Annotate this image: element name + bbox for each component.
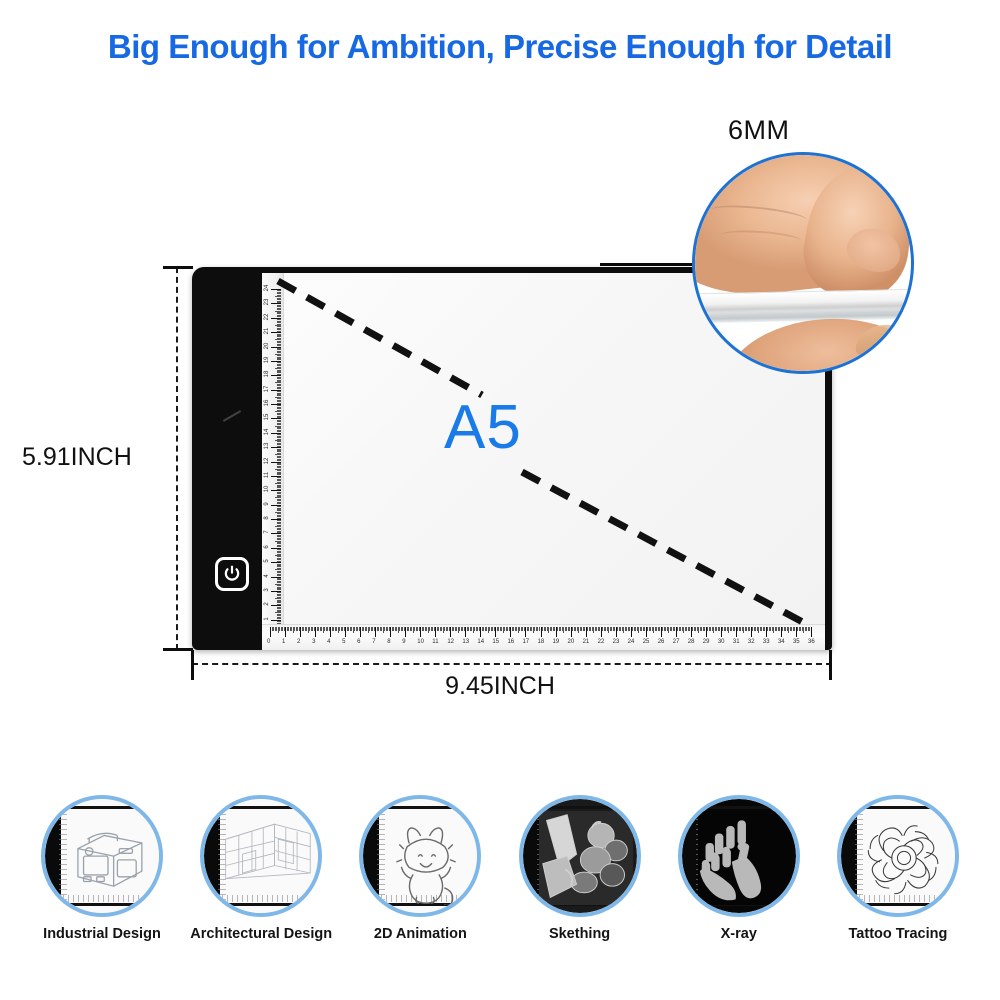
power-icon — [222, 564, 242, 584]
usecase-row: Industrial Design Architectural Design — [0, 795, 1000, 942]
height-dimension-label: 5.91INCH — [22, 443, 132, 472]
ruler-tick-label: 7 — [264, 527, 270, 537]
ruler-tick-label: 32 — [748, 639, 755, 645]
usecase-item[interactable]: Architectural Design — [191, 795, 331, 942]
ruler-tick-label: 1 — [282, 639, 285, 645]
usecase-item[interactable]: 2D Animation — [350, 795, 490, 942]
cat-sketch-icon — [379, 811, 473, 905]
usecase-circle — [519, 795, 641, 917]
pad-top-edge — [698, 806, 790, 809]
pad-top-edge — [857, 806, 949, 809]
ruler-tick-label: 15 — [264, 412, 270, 422]
usecase-pad-mock — [841, 799, 955, 913]
usecase-circle — [678, 795, 800, 917]
ruler-tick-label: 22 — [264, 312, 270, 322]
ruler-tick-label: 36 — [808, 639, 815, 645]
ruler-tick-label: 21 — [583, 639, 590, 645]
ruler-tick-label: 25 — [643, 639, 650, 645]
usecase-item[interactable]: Tattoo Tracing — [828, 795, 968, 942]
ruler-tick-label: 12 — [447, 639, 454, 645]
bezel-glint — [223, 410, 241, 422]
ruler-tick-label: 5 — [264, 556, 270, 566]
ruler-tick-label: 8 — [264, 513, 270, 523]
ruler-tick-label: 22 — [598, 639, 605, 645]
ruler-tick-label: 35 — [793, 639, 800, 645]
ruler-tick-label: 10 — [417, 639, 424, 645]
ruler-tick-label: 3 — [264, 585, 270, 595]
ruler-tick-label: 13 — [462, 639, 469, 645]
ruler-tick-label: 9 — [264, 499, 270, 509]
usecase-artwork — [539, 811, 633, 899]
ruler-tick-label: 24 — [628, 639, 635, 645]
ruler-tick-label: 6 — [357, 639, 360, 645]
ruler-tick-label: 2 — [264, 599, 270, 609]
ruler-tick-label: 24 — [264, 283, 270, 293]
width-dimension-label: 9.45INCH — [0, 672, 1000, 701]
width-dimension-cap-left — [191, 650, 194, 680]
ruler-tick-label: 18 — [538, 639, 545, 645]
callout-leader-line — [600, 263, 700, 266]
ruler-tick-label: 10 — [264, 484, 270, 494]
usecase-pad-mock — [523, 799, 637, 913]
ruler-tick-label: 28 — [688, 639, 695, 645]
usecase-circle — [837, 795, 959, 917]
infographic-page: Big Enough for Ambition, Precise Enough … — [0, 0, 1000, 1000]
ruler-tick-label: 14 — [264, 427, 270, 437]
ruler-tick-label: 34 — [778, 639, 785, 645]
height-dimension-line — [176, 267, 178, 650]
ruler-tick-label: 2 — [297, 639, 300, 645]
callout-photo — [695, 155, 911, 371]
ruler-tick-label: 19 — [264, 355, 270, 365]
generator-sketch-icon — [61, 811, 155, 905]
ruler-tick-label: 13 — [264, 441, 270, 451]
usecase-pad-mock — [45, 799, 159, 913]
horizontal-ruler: 0123456789101112131415161718192021222324… — [262, 624, 825, 650]
usecase-item[interactable]: Skething — [510, 795, 650, 942]
ruler-tick-label: 33 — [763, 639, 770, 645]
ruler-tick-label: 21 — [264, 326, 270, 336]
usecase-artwork — [61, 811, 155, 899]
ruler-tick-label: 4 — [327, 639, 330, 645]
usecase-artwork — [220, 811, 314, 899]
pad-top-edge — [379, 806, 471, 809]
ruler-tick-label: 0 — [267, 639, 270, 645]
usecase-circle — [200, 795, 322, 917]
pad-top-edge — [539, 806, 631, 809]
height-dimension-cap-top — [163, 266, 193, 269]
height-dimension-cap-bottom — [163, 648, 193, 651]
hand-xray-icon — [698, 811, 792, 905]
ruler-tick-label: 11 — [432, 639, 438, 645]
usecase-label: Architectural Design — [190, 926, 332, 942]
width-dimension-cap-right — [829, 650, 832, 680]
thickness-label: 6MM — [728, 115, 790, 146]
usecase-item[interactable]: X-ray — [669, 795, 809, 942]
power-button[interactable] — [215, 557, 249, 591]
ruler-tick-label: 5 — [342, 639, 345, 645]
width-dimension-line — [192, 663, 832, 665]
usecase-artwork — [379, 811, 473, 899]
usecase-label: Industrial Design — [43, 926, 161, 942]
ruler-tick-label: 20 — [264, 341, 270, 351]
ruler-tick-label: 30 — [718, 639, 725, 645]
usecase-pad-mock — [682, 799, 796, 913]
ruler-tick-label: 31 — [733, 639, 740, 645]
usecase-pad-mock — [204, 799, 318, 913]
ruler-tick-label: 7 — [372, 639, 375, 645]
usecase-pad-mock — [363, 799, 477, 913]
ruler-tick-label: 17 — [264, 384, 270, 394]
usecase-label: Skething — [549, 926, 610, 942]
ruler-tick-label: 29 — [703, 639, 710, 645]
ruler-tick-label: 1 — [264, 614, 270, 624]
ruler-tick-label: 3 — [312, 639, 315, 645]
ruler-tick-label: 19 — [553, 639, 560, 645]
ruler-tick-label: 9 — [402, 639, 405, 645]
size-label-a5: A5 — [444, 392, 522, 463]
chrysanthemum-line-art-icon — [857, 811, 951, 905]
still-life-drawing-icon — [539, 811, 633, 905]
ruler-tick-label: 23 — [613, 639, 620, 645]
usecase-circle — [41, 795, 163, 917]
ruler-tick-label: 14 — [477, 639, 484, 645]
usecase-label: Tattoo Tracing — [849, 926, 948, 942]
ruler-tick-label: 8 — [387, 639, 390, 645]
thickness-callout-circle — [692, 152, 914, 374]
usecase-item[interactable]: Industrial Design — [32, 795, 172, 942]
usecase-circle — [359, 795, 481, 917]
pad-top-edge — [220, 806, 312, 809]
page-title: Big Enough for Ambition, Precise Enough … — [0, 28, 1000, 66]
usecase-label: 2D Animation — [374, 926, 467, 942]
vertical-ruler: 0123456789101112131415161718192021222324 — [262, 273, 284, 644]
building-wireframe-icon — [220, 811, 314, 905]
ruler-tick-label: 15 — [492, 639, 499, 645]
usecase-artwork — [698, 811, 792, 899]
ruler-tick-label: 23 — [264, 297, 270, 307]
usecase-artwork — [857, 811, 951, 899]
usecase-label: X-ray — [721, 926, 757, 942]
ruler-tick-label: 27 — [673, 639, 680, 645]
ruler-tick-label: 20 — [568, 639, 575, 645]
ruler-tick-label: 4 — [264, 571, 270, 581]
ruler-tick-label: 17 — [522, 639, 529, 645]
ruler-tick-label: 6 — [264, 542, 270, 552]
ruler-tick-label: 12 — [264, 456, 270, 466]
ruler-tick-label: 26 — [658, 639, 665, 645]
ruler-tick-label: 16 — [264, 398, 270, 408]
ruler-tick-label: 16 — [507, 639, 514, 645]
ruler-tick-label: 11 — [264, 470, 270, 480]
ruler-tick-label: 18 — [264, 369, 270, 379]
pad-top-edge — [61, 806, 153, 809]
